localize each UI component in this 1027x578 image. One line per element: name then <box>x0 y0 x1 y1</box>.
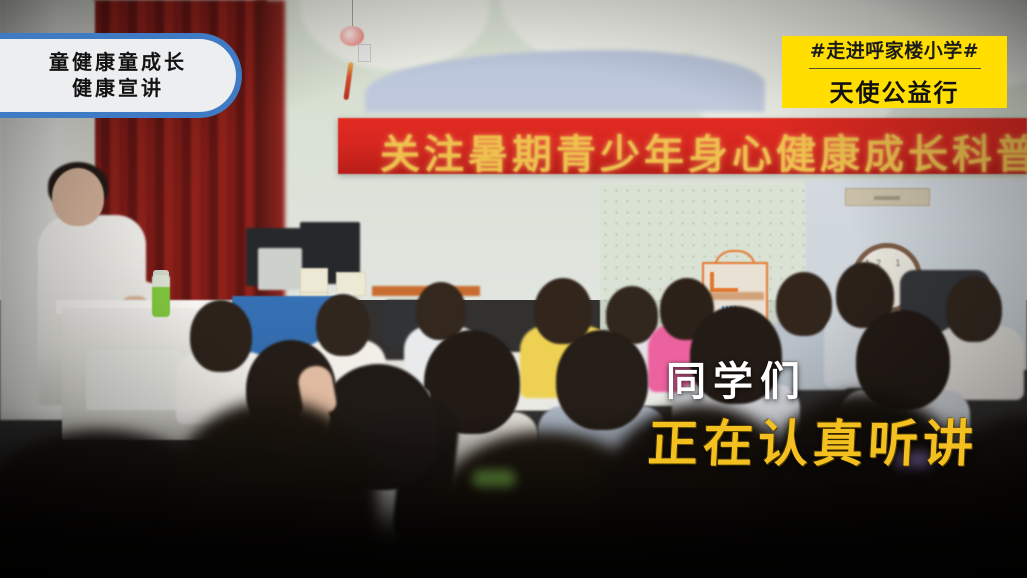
student-head <box>190 300 252 372</box>
monitor-screen <box>258 248 302 290</box>
campaign-hashtag: #走进呼家楼小学# <box>810 36 979 63</box>
green-water-bottle <box>152 275 170 317</box>
caption-block: 同学们 正在认真听讲 <box>648 362 1008 471</box>
hanging-tag <box>358 44 371 62</box>
program-title-line-1: 童健康童成长 <box>23 51 187 75</box>
screenshot-root: 关注暑期青少年身心健康成长科普 <box>0 0 1027 578</box>
hanging-flower-icon <box>340 26 364 46</box>
badge-divider <box>809 68 981 69</box>
student-head <box>556 330 648 430</box>
banner-slogan-text: 关注暑期青少年身心健康成长科普 <box>380 122 1027 180</box>
caption-line-1: 同学们 <box>648 362 1008 402</box>
red-event-banner: 关注暑期青少年身心健康成长科普 <box>338 118 1027 174</box>
lecturer-face <box>52 168 104 226</box>
checkmark-icon <box>710 272 738 292</box>
student-head <box>776 272 832 336</box>
green-hair-band <box>472 470 516 488</box>
foreground-shadow <box>0 520 1027 578</box>
tote-bag-text <box>706 292 764 300</box>
caption-line-2: 正在认真听讲 <box>647 418 1010 471</box>
student-head <box>316 294 370 356</box>
classroom-chair <box>86 350 184 410</box>
campaign-title: 天使公益行 <box>830 73 960 108</box>
student-head <box>946 276 1002 342</box>
stacked-box <box>300 268 328 294</box>
wall-plaque <box>845 188 930 206</box>
program-title-plate: 童健康童成长 健康宣讲 <box>0 33 242 118</box>
campaign-badge: #走进呼家楼小学# 天使公益行 <box>782 36 1007 108</box>
program-title-line-2: 健康宣讲 <box>46 77 164 101</box>
